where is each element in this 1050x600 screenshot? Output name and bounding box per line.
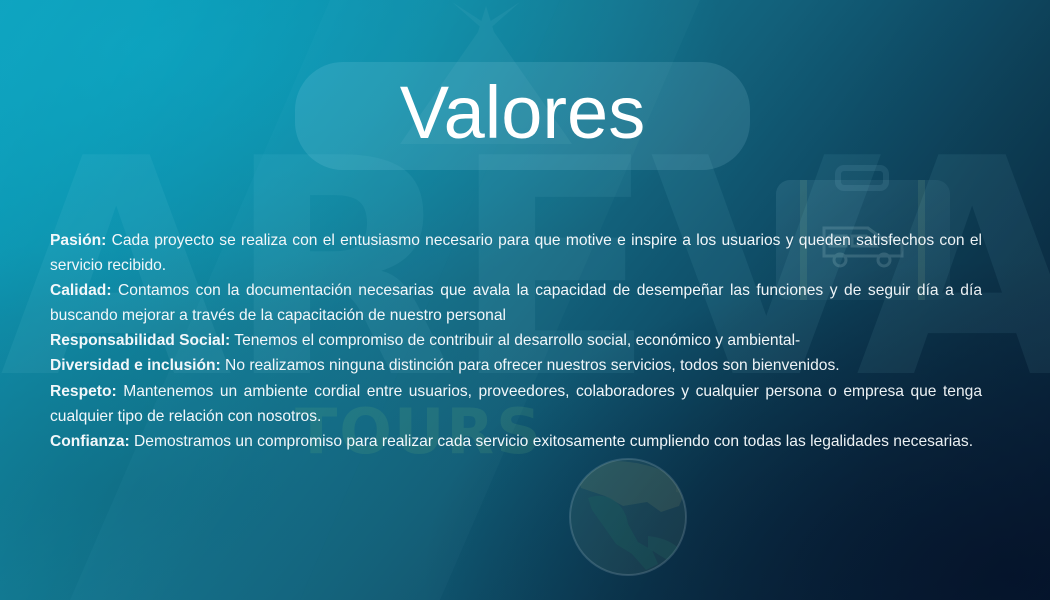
values-list: Pasión: Cada proyecto se realiza con el … — [50, 228, 982, 454]
value-text-respeto: Mantenemos un ambiente cordial entre usu… — [50, 383, 982, 425]
value-item-pasion: Pasión: Cada proyecto se realiza con el … — [50, 228, 982, 278]
value-text-confianza: Demostramos un compromiso para realizar … — [130, 433, 973, 450]
value-item-respeto: Respeto: Mantenemos un ambiente cordial … — [50, 379, 982, 429]
value-text-calidad: Contamos con la documentación necesarias… — [50, 282, 982, 324]
value-lead-respeto: Respeto: — [50, 383, 117, 400]
value-lead-pasion: Pasión: — [50, 232, 106, 249]
value-text-diversidad-inclusion: No realizamos ninguna distinción para of… — [221, 357, 840, 374]
value-lead-calidad: Calidad: — [50, 282, 112, 299]
value-lead-confianza: Confianza: — [50, 433, 130, 450]
title-pill: Valores — [295, 62, 750, 170]
value-text-pasion: Cada proyecto se realiza con el entusias… — [50, 232, 982, 274]
value-lead-diversidad-inclusion: Diversidad e inclusión: — [50, 357, 221, 374]
value-text-responsabilidad-social: Tenemos el compromiso de contribuir al d… — [230, 332, 800, 349]
page-title: Valores — [400, 76, 645, 156]
value-lead-responsabilidad-social: Responsabilidad Social: — [50, 332, 230, 349]
value-item-calidad: Calidad: Contamos con la documentación n… — [50, 278, 982, 328]
value-item-responsabilidad-social: Responsabilidad Social: Tenemos el compr… — [50, 328, 982, 353]
value-item-diversidad-inclusion: Diversidad e inclusión: No realizamos ni… — [50, 353, 982, 378]
value-item-confianza: Confianza: Demostramos un compromiso par… — [50, 429, 982, 454]
slide-canvas: AREVA TOURS Valores Pasión: Cada proyect… — [0, 0, 1050, 600]
